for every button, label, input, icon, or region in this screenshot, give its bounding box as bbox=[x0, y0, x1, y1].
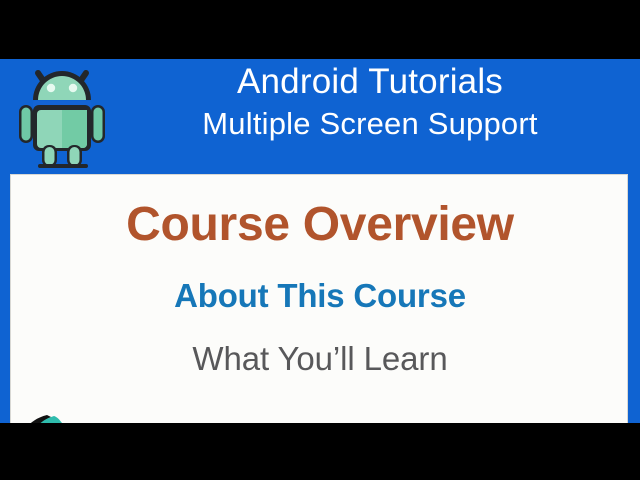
letterbox-bar-top bbox=[0, 0, 640, 59]
video-frame: Android Tutorials Multiple Screen Suppor… bbox=[0, 0, 640, 480]
letterbox-bar-bottom bbox=[0, 423, 640, 480]
slide-canvas: Android Tutorials Multiple Screen Suppor… bbox=[0, 59, 640, 423]
slide-header: Android Tutorials Multiple Screen Suppor… bbox=[0, 59, 640, 173]
page-subtitle: Multiple Screen Support bbox=[108, 105, 632, 143]
content-subheading: About This Course bbox=[11, 276, 629, 316]
slide-header-text: Android Tutorials Multiple Screen Suppor… bbox=[108, 61, 632, 143]
content-caption: What You’ll Learn bbox=[11, 339, 629, 379]
content-heading: Course Overview bbox=[11, 197, 629, 253]
page-title: Android Tutorials bbox=[108, 61, 632, 103]
android-robot-icon bbox=[16, 65, 108, 169]
